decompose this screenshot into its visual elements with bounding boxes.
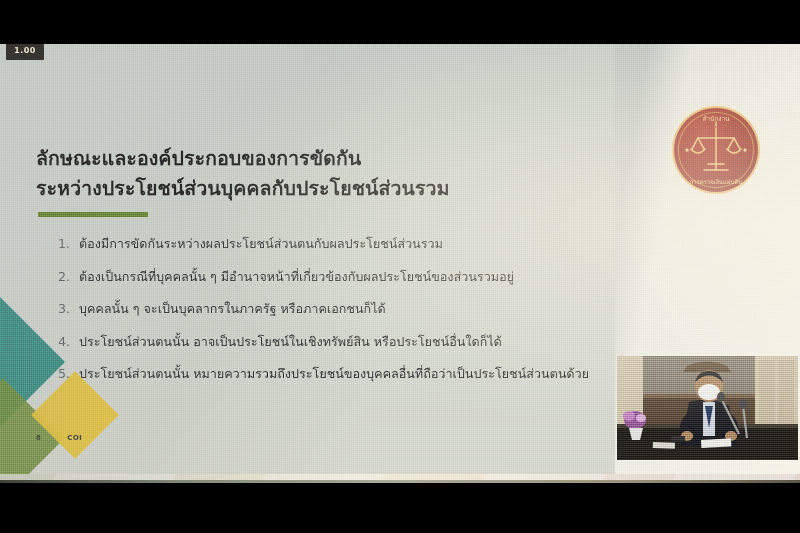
- screen-bottom-edge-sheen: [0, 480, 800, 483]
- list-item-text: ประโยชน์ส่วนตนนั้น หมายความรวมถึงประโยชน…: [79, 364, 589, 384]
- slide-footer-label: COI: [67, 434, 82, 442]
- scales-of-justice-icon: สำนักงาน การตรวจเงินแผ่นดิน ✦ ✦: [674, 108, 758, 192]
- list-item: 1. ต้องมีการขัดกันระหว่างผลประโยชน์ส่วนต…: [44, 234, 604, 254]
- list-item-number: 1.: [44, 234, 79, 254]
- slide-title-line2: ระหว่างประโยชน์ส่วนบุคคลกับประโยชน์ส่วนร…: [36, 174, 576, 204]
- list-item: 4. ประโยชน์ส่วนตนนั้น อาจเป็นประโยชน์ในเ…: [44, 332, 604, 352]
- official-seal-emblem: สำนักงาน การตรวจเงินแผ่นดิน ✦ ✦: [674, 108, 758, 192]
- speaker-video-inset[interactable]: [617, 356, 798, 460]
- letterbox-top: [0, 0, 800, 44]
- list-item-number: 5.: [44, 364, 79, 384]
- slide-footer: 8 COI: [36, 434, 82, 442]
- letterbox-bottom: [0, 480, 800, 533]
- list-item-text: บุคคลนั้น ๆ จะเป็นบุคลากรในภาครัฐ หรือภา…: [79, 299, 386, 319]
- title-underline-accent: [38, 212, 148, 217]
- list-item: 2. ต้องเป็นกรณีที่บุคคลนั้น ๆ มีอำนาจหน้…: [44, 267, 604, 287]
- list-item-text: ประโยชน์ส่วนตนนั้น อาจเป็นประโยชน์ในเชิง…: [79, 332, 502, 352]
- speaker-scene: [617, 356, 798, 460]
- list-item-number: 2.: [44, 267, 79, 287]
- list-item-text: ต้องมีการขัดกันระหว่างผลประโยชน์ส่วนตนกั…: [79, 234, 443, 254]
- seal-star-left: ✦: [684, 146, 691, 155]
- seal-bottom-text: การตรวจเงินแผ่นดิน: [690, 179, 743, 186]
- seal-star-right: ✦: [742, 146, 749, 155]
- seal-top-text: สำนักงาน: [702, 115, 730, 123]
- slide-bullet-list: 1. ต้องมีการขัดกันระหว่างผลประโยชน์ส่วนต…: [44, 234, 604, 397]
- list-item-number: 3.: [44, 299, 79, 319]
- list-item: 5. ประโยชน์ส่วนตนนั้น หมายความรวมถึงประโ…: [44, 364, 604, 384]
- slide-title-line1: ลักษณะและองค์ประกอบของการขัดกัน: [36, 147, 361, 170]
- projection-screen: ลักษณะและองค์ประกอบของการขัดกัน ระหว่างป…: [0, 44, 800, 480]
- list-item-number: 4.: [44, 332, 79, 352]
- list-item: 3. บุคคลนั้น ๆ จะเป็นบุคลากรในภาครัฐ หรื…: [44, 299, 604, 319]
- slide-title: ลักษณะและองค์ประกอบของการขัดกัน ระหว่างป…: [36, 144, 576, 204]
- slide-page-number: 8: [36, 434, 41, 442]
- screenshot-stage: ลักษณะและองค์ประกอบของการขัดกัน ระหว่างป…: [0, 0, 800, 533]
- list-item-text: ต้องเป็นกรณีที่บุคคลนั้น ๆ มีอำนาจหน้าที…: [79, 267, 514, 287]
- presentation-slide: ลักษณะและองค์ประกอบของการขัดกัน ระหว่างป…: [0, 44, 615, 480]
